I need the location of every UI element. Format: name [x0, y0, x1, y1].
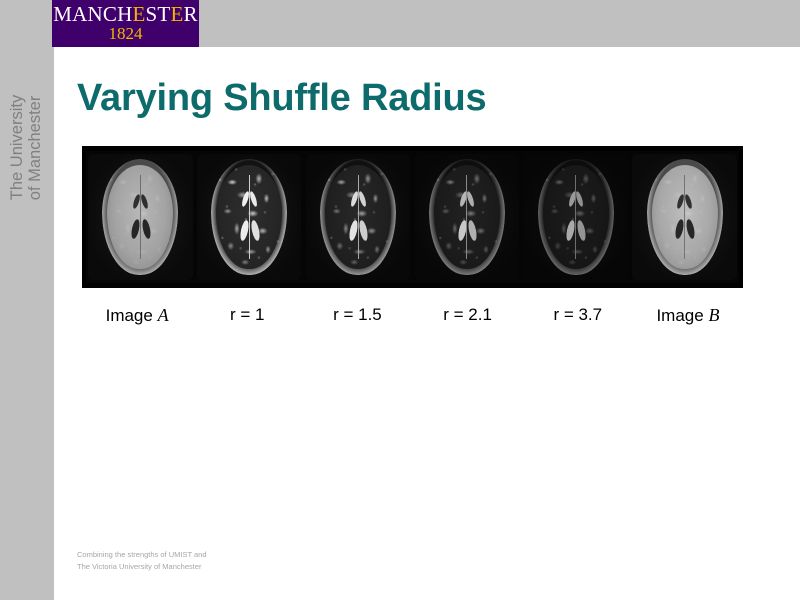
- brain-slice-r-3-7: [538, 159, 614, 275]
- mri-panel-r-1: [195, 151, 304, 283]
- caption-image-a-symbol: A: [158, 305, 169, 325]
- brain-slice-r-1-5: [320, 159, 396, 275]
- footer-strapline: Combining the strengths of UMIST and The…: [77, 549, 397, 572]
- mri-panel-r-3-7: [521, 151, 630, 283]
- caption-r-3-7-text: r = 3.7: [553, 305, 602, 324]
- noise-speckle: [647, 159, 723, 275]
- caption-image-b-symbol: B: [708, 305, 719, 325]
- caption-r-2-1-text: r = 2.1: [443, 305, 492, 324]
- caption-r-1-5: r = 1.5: [302, 304, 412, 326]
- mri-panel-r-1-5: [304, 151, 413, 283]
- vertical-wordmark-line1: The University: [10, 95, 28, 200]
- caption-image-a-text: Image: [106, 306, 158, 325]
- caption-r-2-1: r = 2.1: [413, 304, 523, 326]
- page-title: Varying Shuffle Radius: [77, 76, 757, 120]
- logo-wordmark-part1: MANCH: [53, 2, 132, 26]
- noise-speckle: [538, 159, 614, 275]
- caption-r-1-5-text: r = 1.5: [333, 305, 382, 324]
- logo-year: 1824: [52, 25, 199, 42]
- caption-r-3-7: r = 3.7: [523, 304, 633, 326]
- brain-slice-r-1: [211, 159, 287, 275]
- caption-r-1: r = 1: [192, 304, 302, 326]
- noise-speckle: [320, 159, 396, 275]
- brain-slice-image-b: [647, 159, 723, 275]
- footer-line-2: The Victoria University of Manchester: [77, 561, 397, 573]
- noise-speckle: [102, 159, 178, 275]
- logo-wordmark-part4: E: [170, 2, 183, 26]
- brain-slice-image-a: [102, 159, 178, 275]
- noise-speckle: [429, 159, 505, 275]
- vertical-wordmark: The University of Manchester: [0, 48, 54, 258]
- mri-figure-panel: [82, 146, 743, 288]
- mri-panel-image-b: [630, 151, 739, 283]
- caption-image-b: Image B: [633, 304, 743, 327]
- figure-caption-row: Image A r = 1 r = 1.5 r = 2.1 r = 3.7 Im…: [82, 303, 743, 327]
- mri-image-row: [86, 151, 739, 283]
- footer-line-1: Combining the strengths of UMIST and: [77, 549, 397, 561]
- mri-panel-r-2-1: [412, 151, 521, 283]
- presentation-slide: The University of Manchester MANCHESTER …: [0, 0, 800, 600]
- logo-wordmark-part5: R: [183, 2, 197, 26]
- caption-r-1-text: r = 1: [230, 305, 265, 324]
- vertical-wordmark-line2: of Manchester: [27, 95, 45, 200]
- mri-panel-image-a: [86, 151, 195, 283]
- logo-wordmark-part3: ST: [146, 2, 171, 26]
- noise-speckle: [211, 159, 287, 275]
- brain-slice-r-2-1: [429, 159, 505, 275]
- logo-wordmark-part2: E: [132, 2, 145, 26]
- manchester-logo: MANCHESTER 1824: [52, 0, 199, 47]
- logo-wordmark: MANCHESTER: [52, 4, 199, 25]
- caption-image-a: Image A: [82, 304, 192, 327]
- caption-image-b-text: Image: [656, 306, 708, 325]
